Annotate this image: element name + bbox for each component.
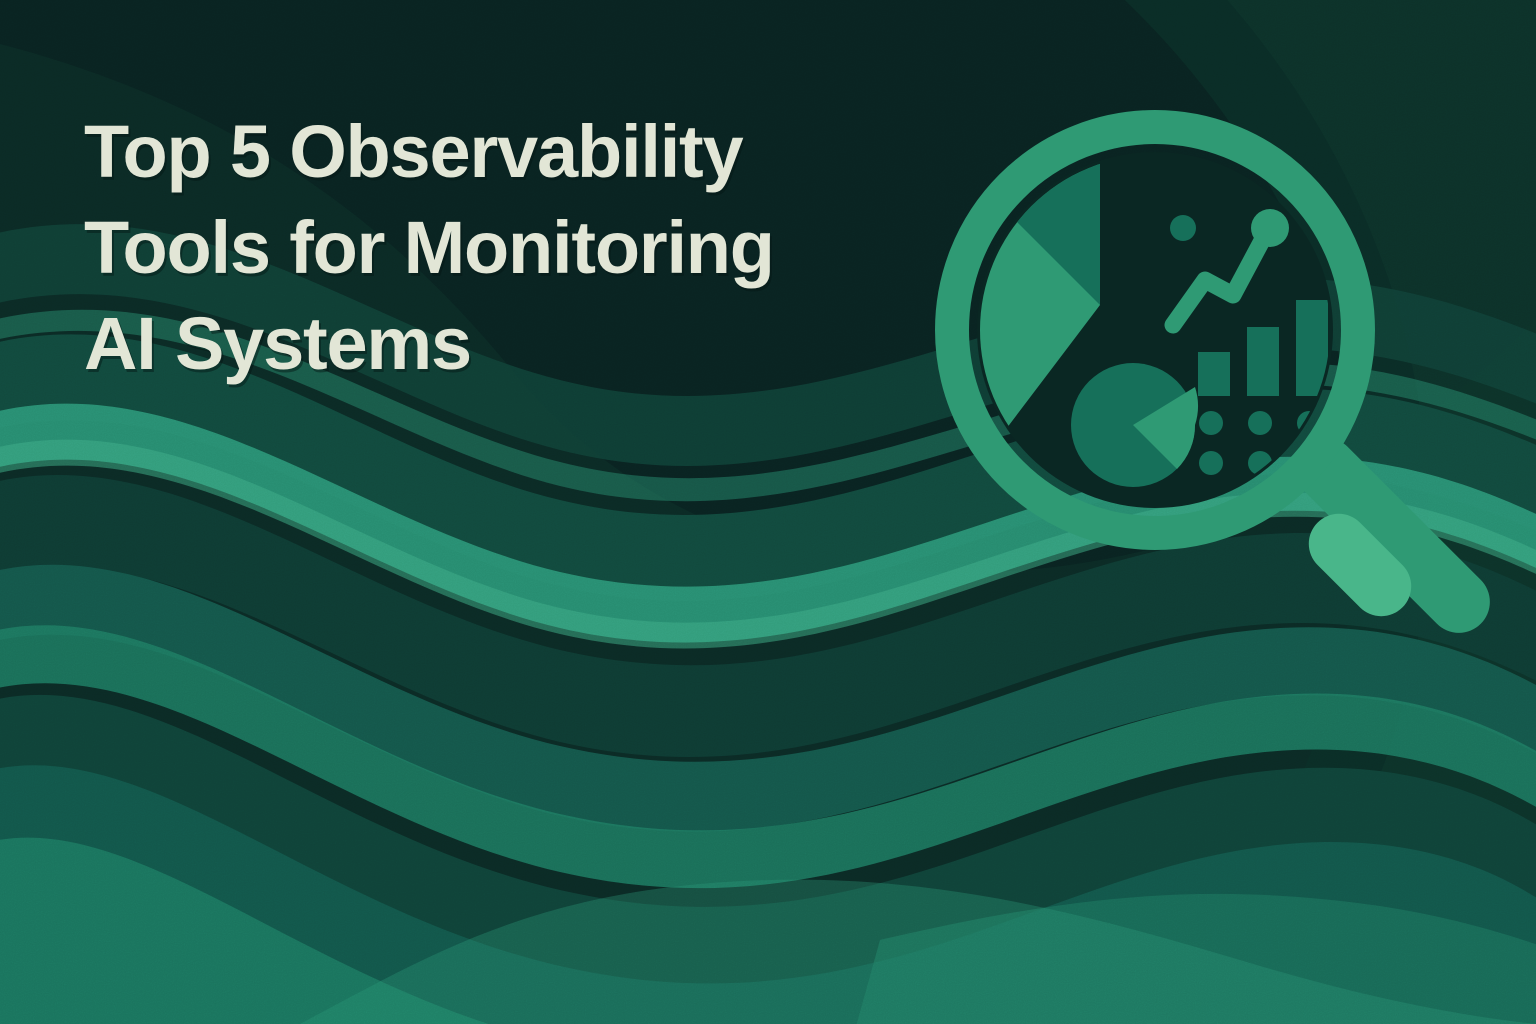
bar-1: [1198, 352, 1230, 396]
matrix-dot-r1c2: [1248, 411, 1272, 435]
trend-line-end-marker: [1251, 209, 1289, 247]
headline-line-2: Tools for Monitoring: [84, 200, 904, 296]
headline-line-3: AI Systems: [84, 296, 904, 392]
headline-line-1: Top 5 Observability: [84, 104, 904, 200]
magnifier-illustration: [905, 95, 1525, 675]
matrix-dot-r2c1: [1199, 451, 1223, 475]
magnifier-svg: [905, 95, 1525, 675]
bar-2: [1247, 327, 1279, 396]
headline-block: Top 5 Observability Tools for Monitoring…: [84, 104, 904, 392]
banner-canvas: Top 5 Observability Tools for Monitoring…: [0, 0, 1536, 1024]
matrix-dot-r1c1: [1199, 411, 1223, 435]
marker-dot: [1170, 215, 1196, 241]
